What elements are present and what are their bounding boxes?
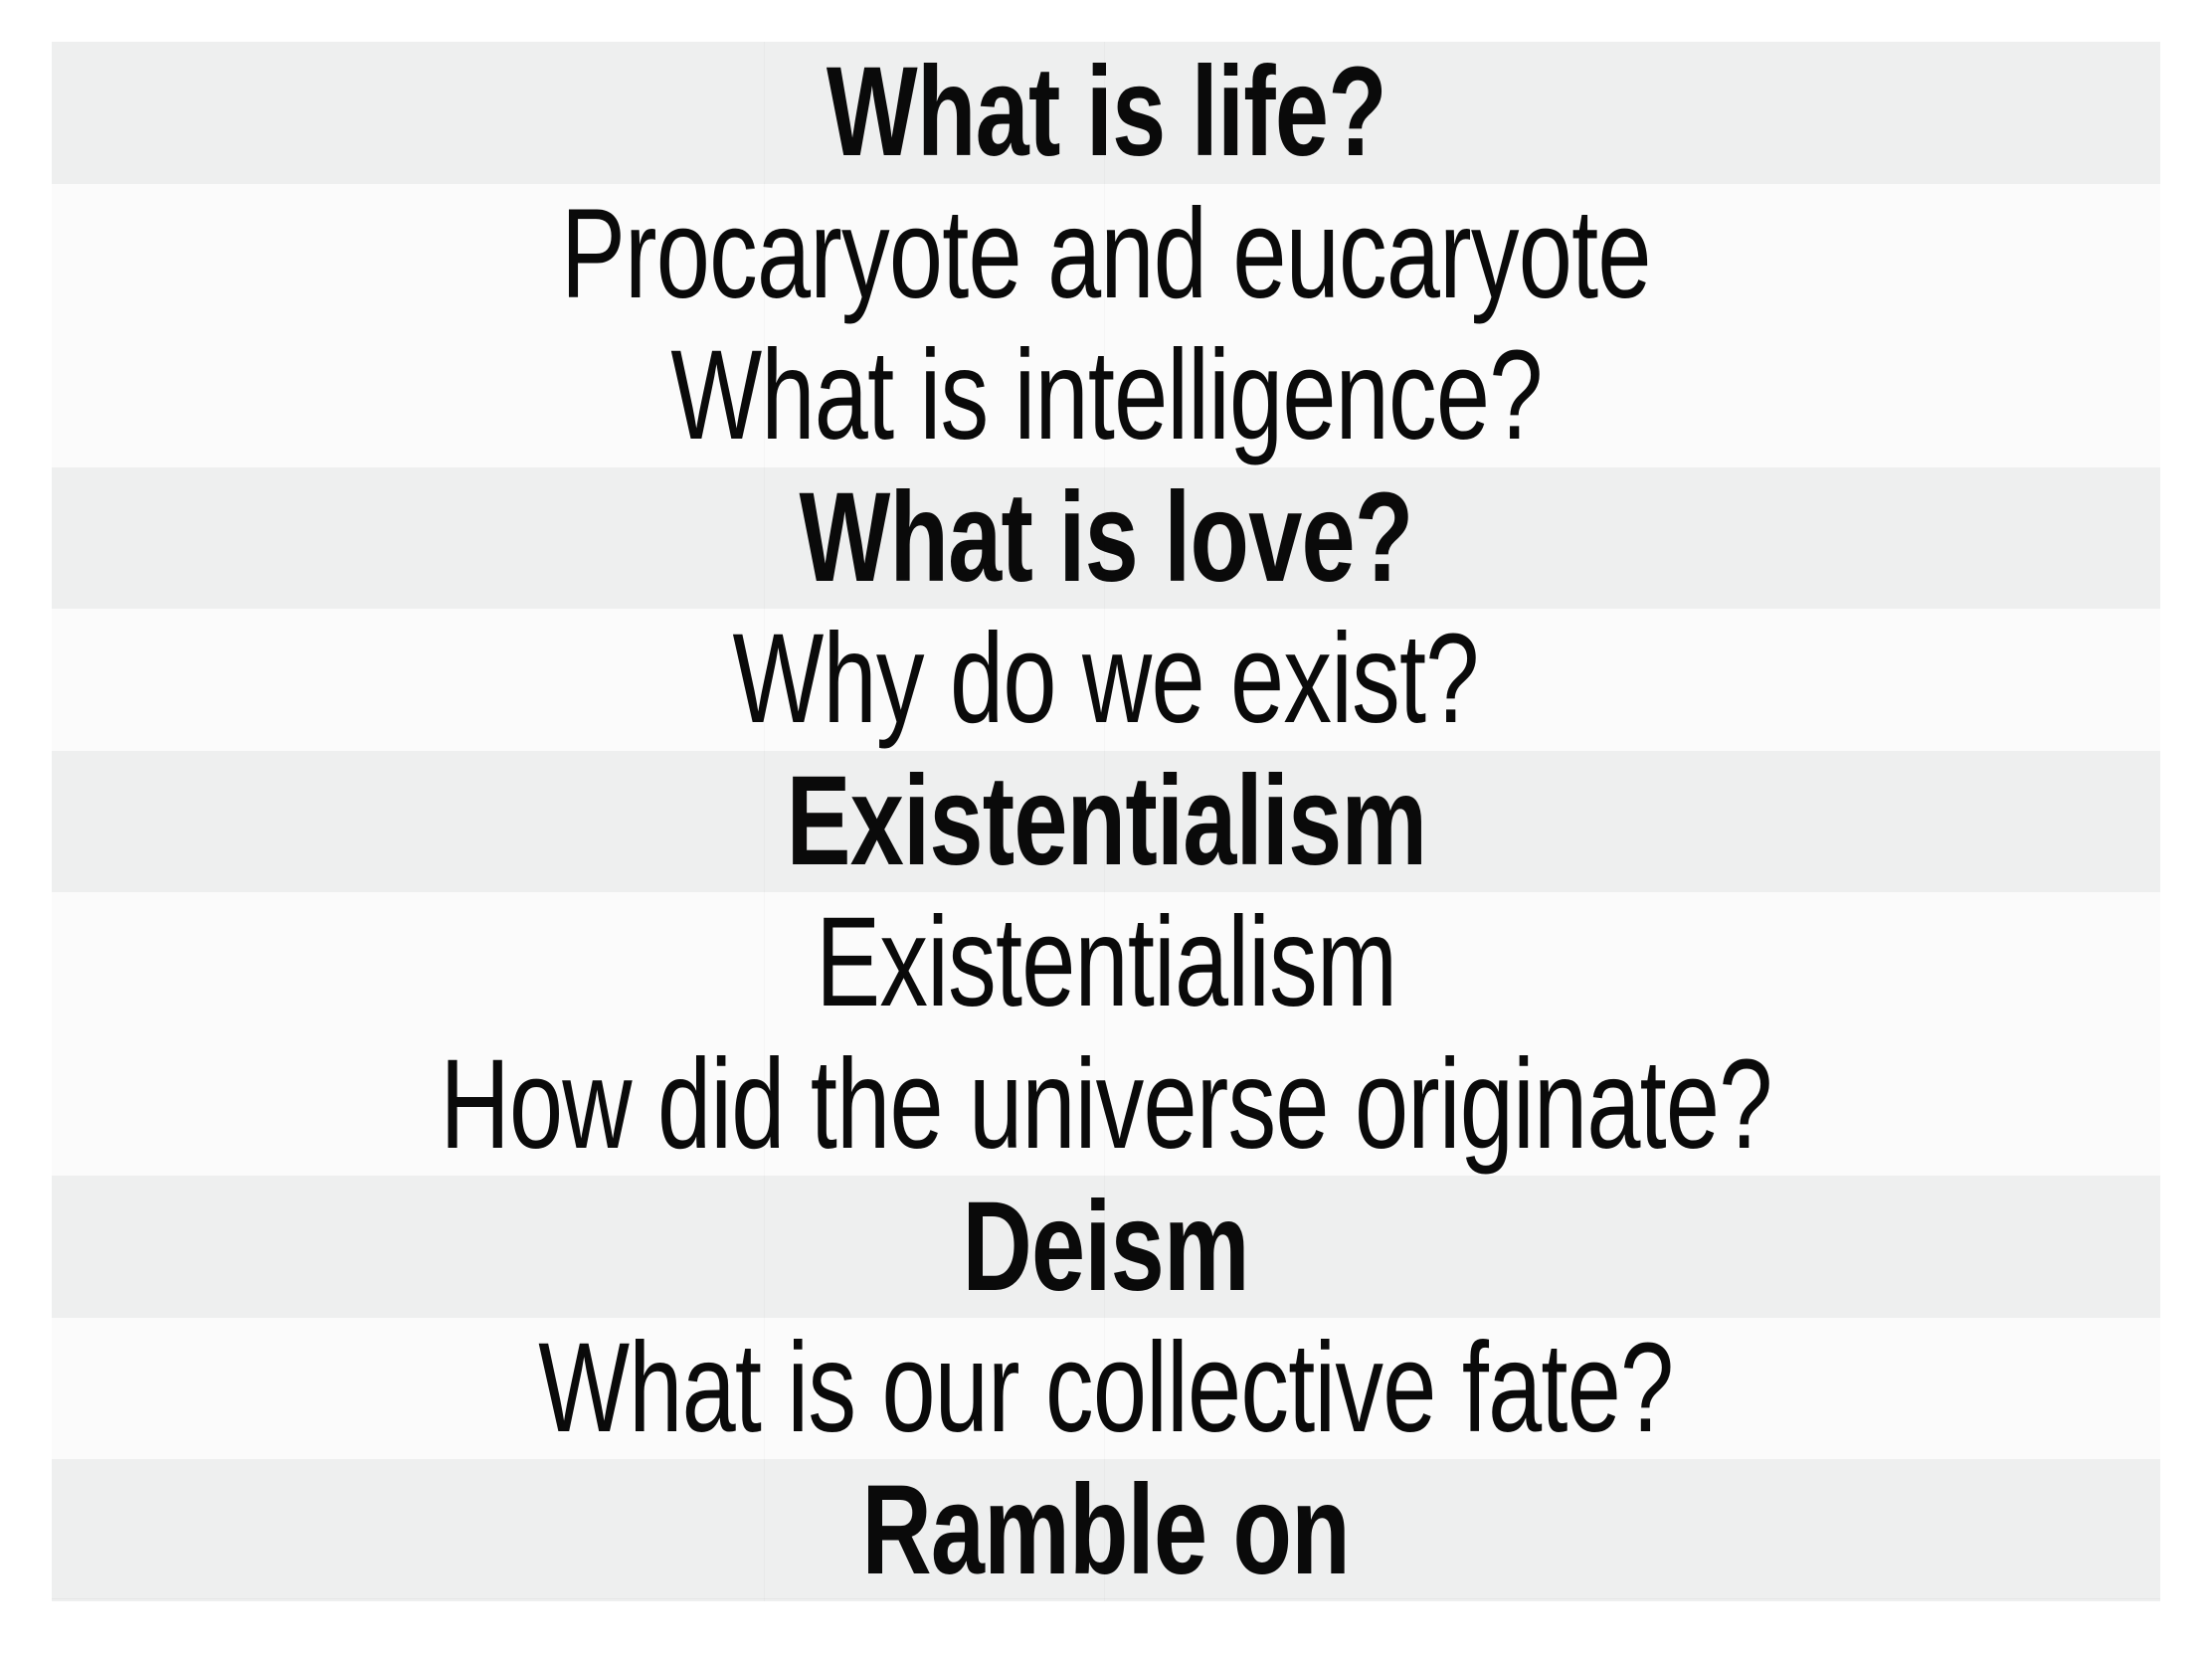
list-item[interactable]: What is intelligence?: [52, 325, 2160, 467]
screen-root: What is life? Procaryote and eucaryote W…: [0, 0, 2212, 1655]
bottom-divider: [52, 1598, 2160, 1599]
prompt-label: How did the universe originate?: [440, 1041, 1771, 1169]
list-item[interactable]: How did the universe originate?: [52, 1034, 2160, 1177]
prompt-label: Why do we exist?: [733, 616, 1479, 743]
prompt-label: What is our collective fate?: [538, 1325, 1673, 1452]
list-item[interactable]: Existentialism: [52, 892, 2160, 1034]
prompt-label: What is intelligence?: [670, 332, 1542, 460]
list-item[interactable]: Existentialism: [52, 751, 2160, 893]
prompt-label: Existentialism: [786, 758, 1426, 885]
list-item[interactable]: Procaryote and eucaryote: [52, 184, 2160, 326]
prompt-list: What is life? Procaryote and eucaryote W…: [52, 42, 2160, 1601]
prompt-label: What is life?: [826, 49, 1385, 176]
list-item[interactable]: Why do we exist?: [52, 609, 2160, 751]
prompt-label: Deism: [963, 1184, 1249, 1311]
prompt-label: Existentialism: [816, 899, 1396, 1026]
prompt-label: Procaryote and eucaryote: [561, 191, 1651, 318]
list-item[interactable]: Deism: [52, 1176, 2160, 1318]
prompt-label: Ramble on: [862, 1467, 1350, 1594]
list-item[interactable]: What is our collective fate?: [52, 1318, 2160, 1460]
list-item[interactable]: Ramble on: [52, 1459, 2160, 1601]
list-item[interactable]: What is love?: [52, 467, 2160, 610]
prompt-label: What is love?: [799, 474, 1412, 602]
list-item[interactable]: What is life?: [52, 42, 2160, 184]
